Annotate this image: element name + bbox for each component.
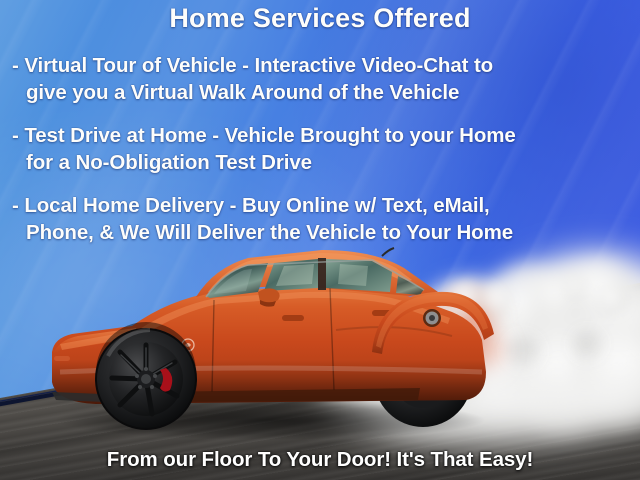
service-line-1: - Local Home Delivery - Buy Online w/ Te… [12, 194, 490, 217]
service-line-2: give you a Virtual Walk Around of the Ve… [12, 79, 630, 106]
services-list: - Virtual Tour of Vehicle - Interactive … [0, 52, 640, 262]
service-line-2: for a No-Obligation Test Drive [12, 149, 630, 176]
page-title: Home Services Offered [0, 2, 640, 34]
front-marker-light [54, 356, 70, 361]
promo-banner: Home Services Offered - Virtual Tour of … [0, 0, 640, 480]
front-wheel [96, 322, 196, 429]
list-item: - Test Drive at Home - Vehicle Brought t… [0, 122, 640, 176]
tagline: From our Floor To Your Door! It's That E… [0, 448, 640, 472]
service-line-2: Phone, & We Will Deliver the Vehicle to … [12, 219, 630, 246]
service-line-1: - Test Drive at Home - Vehicle Brought t… [12, 124, 516, 147]
door-handle-front [282, 315, 304, 321]
service-line-1: - Virtual Tour of Vehicle - Interactive … [12, 54, 493, 77]
list-item: - Local Home Delivery - Buy Online w/ Te… [0, 192, 640, 246]
list-item: - Virtual Tour of Vehicle - Interactive … [0, 52, 640, 106]
